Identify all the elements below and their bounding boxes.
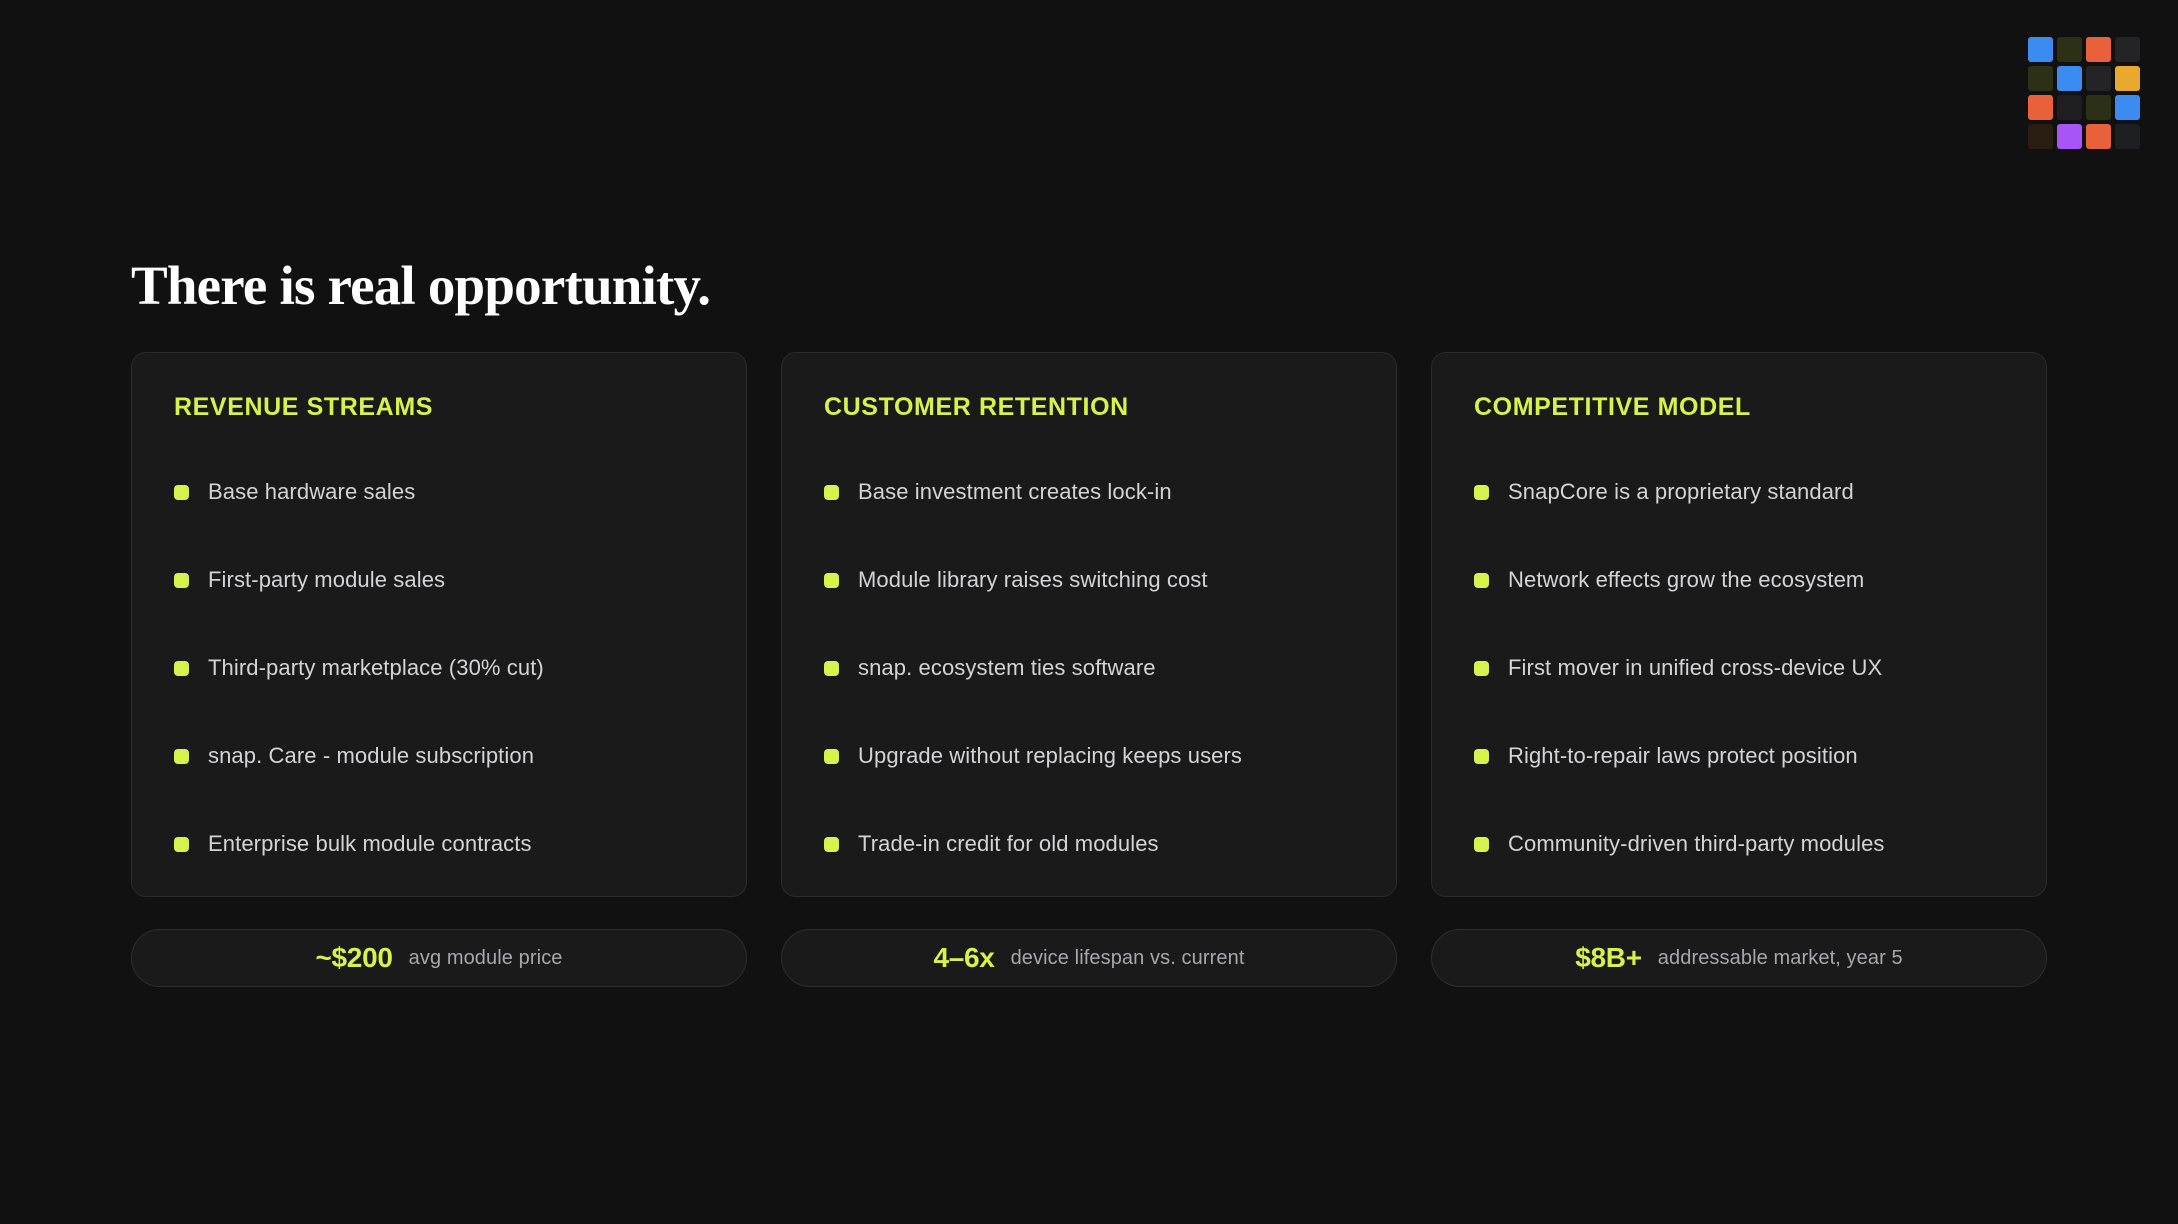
list-item: snap. Care - module subscription bbox=[174, 712, 704, 800]
stat-value: $8B+ bbox=[1575, 942, 1642, 974]
list-item: SnapCore is a proprietary standard bbox=[1474, 448, 2004, 536]
bullet-label: Network effects grow the ecosystem bbox=[1508, 567, 1864, 593]
stat-value: ~$200 bbox=[315, 942, 392, 974]
logo-cell-14 bbox=[2086, 124, 2111, 149]
bullet-square-icon bbox=[174, 661, 189, 676]
logo-cell-13 bbox=[2057, 124, 2082, 149]
page-title: There is real opportunity. bbox=[131, 256, 710, 316]
logo-cell-0 bbox=[2028, 37, 2053, 62]
bullet-square-icon bbox=[174, 485, 189, 500]
bullet-label: Base investment creates lock-in bbox=[858, 479, 1172, 505]
column-2: CUSTOMER RETENTIONBase investment create… bbox=[781, 352, 1397, 987]
bullet-label: Base hardware sales bbox=[208, 479, 415, 505]
logo-cell-15 bbox=[2115, 124, 2140, 149]
bullet-label: First-party module sales bbox=[208, 567, 445, 593]
bullet-square-icon bbox=[1474, 485, 1489, 500]
bullet-label: Third-party marketplace (30% cut) bbox=[208, 655, 544, 681]
stat-pill: 4–6xdevice lifespan vs. current bbox=[781, 929, 1397, 987]
bullet-list: Base investment creates lock-inModule li… bbox=[824, 448, 1354, 888]
list-item: Trade-in credit for old modules bbox=[824, 800, 1354, 888]
list-item: Upgrade without replacing keeps users bbox=[824, 712, 1354, 800]
list-item: Network effects grow the ecosystem bbox=[1474, 536, 2004, 624]
list-item: snap. ecosystem ties software bbox=[824, 624, 1354, 712]
stat-pill: ~$200avg module price bbox=[131, 929, 747, 987]
bullet-square-icon bbox=[1474, 573, 1489, 588]
bullet-label: First mover in unified cross-device UX bbox=[1508, 655, 1882, 681]
logo-cell-9 bbox=[2057, 95, 2082, 120]
list-item: First mover in unified cross-device UX bbox=[1474, 624, 2004, 712]
column-1: REVENUE STREAMSBase hardware salesFirst-… bbox=[131, 352, 747, 987]
bullet-square-icon bbox=[1474, 661, 1489, 676]
stat-label: avg module price bbox=[409, 947, 563, 970]
card-1: REVENUE STREAMSBase hardware salesFirst-… bbox=[131, 352, 747, 897]
list-item: Enterprise bulk module contracts bbox=[174, 800, 704, 888]
card-title: CUSTOMER RETENTION bbox=[824, 393, 1354, 422]
list-item: Third-party marketplace (30% cut) bbox=[174, 624, 704, 712]
logo-cell-6 bbox=[2086, 66, 2111, 91]
bullet-square-icon bbox=[174, 573, 189, 588]
column-3: COMPETITIVE MODELSnapCore is a proprieta… bbox=[1431, 352, 2047, 987]
bullet-label: snap. Care - module subscription bbox=[208, 743, 534, 769]
bullet-label: Trade-in credit for old modules bbox=[858, 831, 1159, 857]
logo-grid bbox=[2028, 37, 2140, 149]
bullet-label: Enterprise bulk module contracts bbox=[208, 831, 532, 857]
bullet-square-icon bbox=[824, 485, 839, 500]
logo-cell-11 bbox=[2115, 95, 2140, 120]
logo-cell-8 bbox=[2028, 95, 2053, 120]
logo-cell-4 bbox=[2028, 66, 2053, 91]
list-item: Right-to-repair laws protect position bbox=[1474, 712, 2004, 800]
list-item: Community-driven third-party modules bbox=[1474, 800, 2004, 888]
bullet-label: Module library raises switching cost bbox=[858, 567, 1208, 593]
bullet-square-icon bbox=[1474, 749, 1489, 764]
bullet-list: SnapCore is a proprietary standardNetwor… bbox=[1474, 448, 2004, 888]
logo-cell-5 bbox=[2057, 66, 2082, 91]
stat-pill: $8B+addressable market, year 5 bbox=[1431, 929, 2047, 987]
stat-value: 4–6x bbox=[933, 942, 994, 974]
card-2: CUSTOMER RETENTIONBase investment create… bbox=[781, 352, 1397, 897]
bullet-square-icon bbox=[174, 749, 189, 764]
bullet-label: Right-to-repair laws protect position bbox=[1508, 743, 1858, 769]
bullet-label: snap. ecosystem ties software bbox=[858, 655, 1156, 681]
logo-cell-1 bbox=[2057, 37, 2082, 62]
bullet-label: Community-driven third-party modules bbox=[1508, 831, 1885, 857]
logo-cell-10 bbox=[2086, 95, 2111, 120]
bullet-label: SnapCore is a proprietary standard bbox=[1508, 479, 1854, 505]
logo-cell-3 bbox=[2115, 37, 2140, 62]
list-item: Base investment creates lock-in bbox=[824, 448, 1354, 536]
list-item: First-party module sales bbox=[174, 536, 704, 624]
card-3: COMPETITIVE MODELSnapCore is a proprieta… bbox=[1431, 352, 2047, 897]
bullet-list: Base hardware salesFirst-party module sa… bbox=[174, 448, 704, 888]
columns-container: REVENUE STREAMSBase hardware salesFirst-… bbox=[131, 352, 2047, 987]
card-title: COMPETITIVE MODEL bbox=[1474, 393, 2004, 422]
bullet-square-icon bbox=[174, 837, 189, 852]
stat-label: addressable market, year 5 bbox=[1658, 947, 1903, 970]
list-item: Module library raises switching cost bbox=[824, 536, 1354, 624]
list-item: Base hardware sales bbox=[174, 448, 704, 536]
bullet-square-icon bbox=[824, 573, 839, 588]
bullet-square-icon bbox=[824, 749, 839, 764]
logo-cell-7 bbox=[2115, 66, 2140, 91]
logo-cell-12 bbox=[2028, 124, 2053, 149]
card-title: REVENUE STREAMS bbox=[174, 393, 704, 422]
bullet-square-icon bbox=[824, 661, 839, 676]
stat-label: device lifespan vs. current bbox=[1011, 947, 1245, 970]
bullet-label: Upgrade without replacing keeps users bbox=[858, 743, 1242, 769]
logo-cell-2 bbox=[2086, 37, 2111, 62]
bullet-square-icon bbox=[1474, 837, 1489, 852]
bullet-square-icon bbox=[824, 837, 839, 852]
